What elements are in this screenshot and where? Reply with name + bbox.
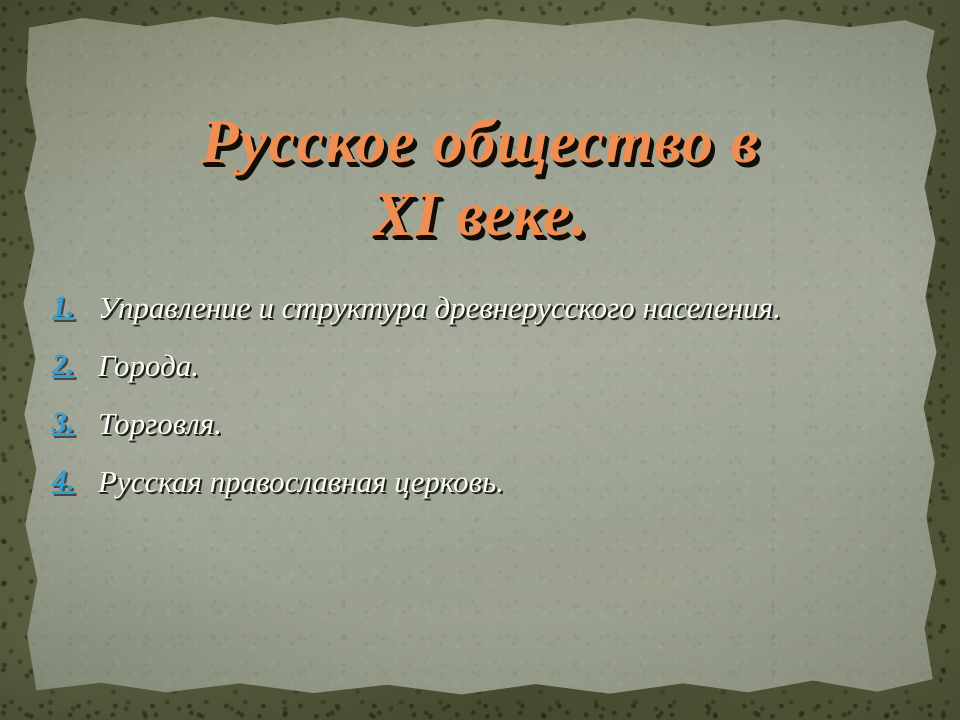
- list-item: 4. Русская православная церковь.: [52, 460, 920, 504]
- list-item-number: 1.: [52, 286, 98, 329]
- agenda-block: 1. Управление и структура древнерусского…: [0, 286, 960, 720]
- agenda-list: 1. Управление и структура древнерусского…: [52, 286, 920, 504]
- list-item-label: Города.: [98, 344, 199, 388]
- list-item: 3. Торговля.: [52, 402, 920, 446]
- list-item: 2. Города.: [52, 344, 920, 388]
- list-item-number: 4.: [52, 460, 98, 503]
- list-item-label: Управление и структура древнерусского на…: [98, 286, 781, 330]
- page-title-line-1: Русское общество в: [26, 106, 934, 179]
- page-title-line-2: XI веке.: [26, 179, 934, 252]
- slide-content: Русское общество в XI веке. 1. Управлени…: [0, 0, 960, 720]
- presentation-slide: Русское общество в XI веке. 1. Управлени…: [0, 0, 960, 720]
- list-item-label: Русская православная церковь.: [98, 460, 504, 504]
- list-item-label: Торговля.: [98, 402, 222, 446]
- list-item: 1. Управление и структура древнерусского…: [52, 286, 920, 330]
- title-block: Русское общество в XI веке.: [0, 106, 960, 252]
- page-title: Русское общество в XI веке.: [26, 106, 934, 252]
- list-item-number: 3.: [52, 402, 98, 445]
- list-item-number: 2.: [52, 344, 98, 387]
